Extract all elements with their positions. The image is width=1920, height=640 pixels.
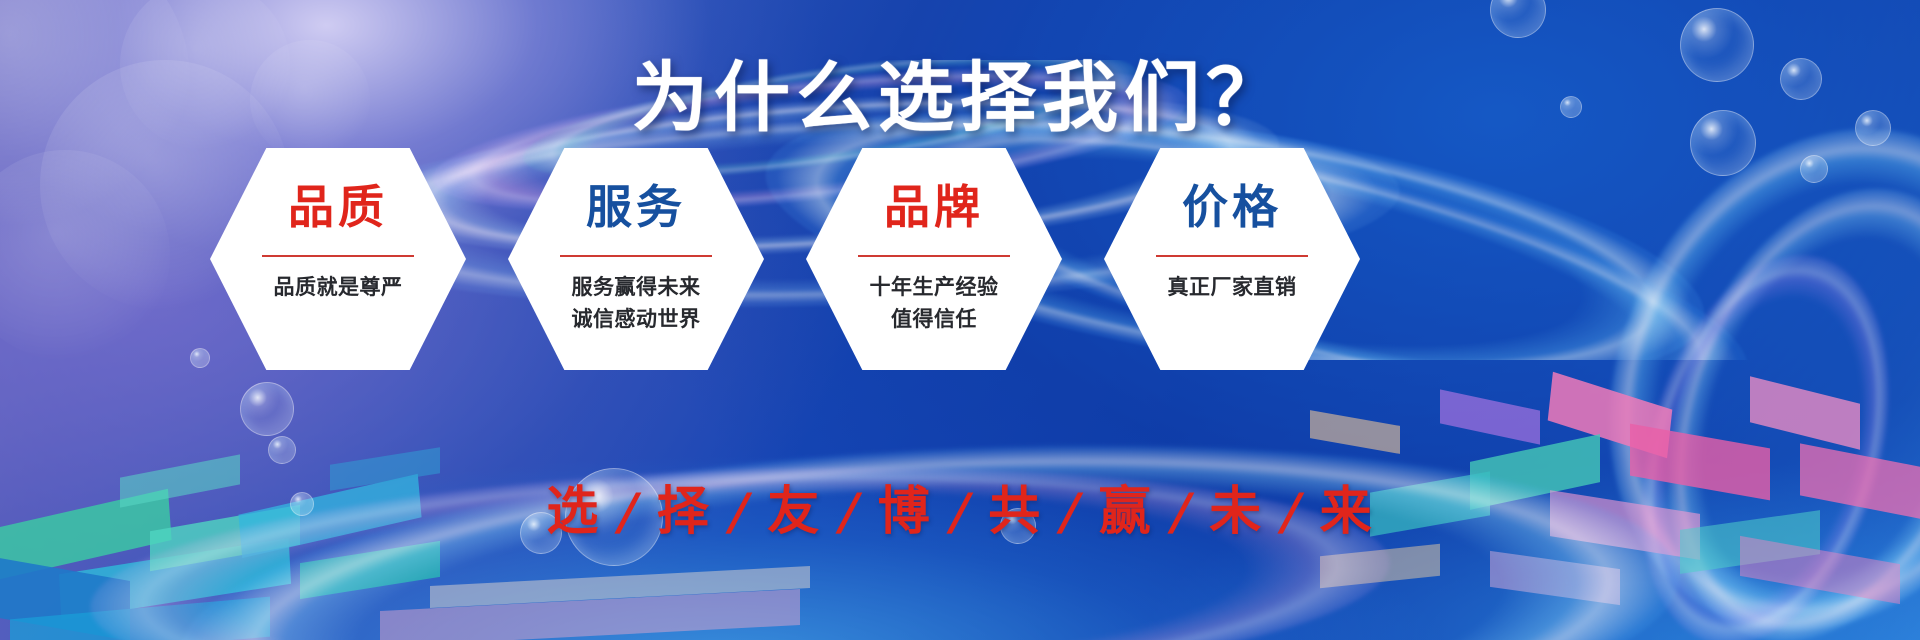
slogan-separator: / <box>820 483 879 541</box>
slogan-separator: / <box>599 483 658 541</box>
feature-card-list: 品质 品质就是尊严 服务 服务赢得未来 诚信感动世界 品牌 十年生产经验 值得信… <box>210 148 1360 370</box>
feature-card-subtitle: 品质就是尊严 <box>274 271 403 304</box>
slogan-separator: / <box>710 483 769 541</box>
divider <box>262 255 414 257</box>
slogan-word: 择 <box>657 469 711 544</box>
slogan-separator: / <box>1041 483 1100 541</box>
feature-card-title: 服务 <box>586 182 686 233</box>
divider <box>858 255 1010 257</box>
feature-card[interactable]: 价格 真正厂家直销 <box>1104 148 1360 370</box>
feature-card[interactable]: 品牌 十年生产经验 值得信任 <box>806 148 1062 370</box>
divider <box>1156 255 1308 257</box>
bubble-icon <box>190 348 210 368</box>
feature-card[interactable]: 服务 服务赢得未来 诚信感动世界 <box>508 148 764 370</box>
slogan-word: 来 <box>1320 469 1374 544</box>
promo-banner: 为什么选择我们？ 品质 品质就是尊严 服务 服务赢得未来 诚信感动世界 品牌 十… <box>0 0 1920 640</box>
feature-card-subtitle: 服务赢得未来 诚信感动世界 <box>572 271 701 336</box>
feature-card-title: 价格 <box>1182 182 1282 233</box>
page-title: 为什么选择我们？ <box>0 36 1920 146</box>
slogan-word: 选 <box>546 469 600 544</box>
slogan-word: 友 <box>767 469 821 544</box>
slogan-word: 未 <box>1209 469 1263 544</box>
slogan-word: 博 <box>878 469 932 544</box>
feature-card-subtitle: 真正厂家直销 <box>1168 271 1297 304</box>
divider <box>560 255 712 257</box>
feature-card-subtitle: 十年生产经验 值得信任 <box>870 271 999 336</box>
feature-card[interactable]: 品质 品质就是尊严 <box>210 148 466 370</box>
slogan: 选 / 择 / 友 / 博 / 共 / 赢 / 未 / 来 <box>0 469 1920 544</box>
slogan-separator: / <box>1262 483 1321 541</box>
slogan-word: 共 <box>988 469 1042 544</box>
slogan-word: 赢 <box>1099 469 1153 544</box>
bubble-icon <box>268 436 296 464</box>
slogan-separator: / <box>931 483 990 541</box>
bubble-icon <box>1800 155 1828 183</box>
slogan-separator: / <box>1152 483 1211 541</box>
feature-card-title: 品质 <box>288 182 388 233</box>
feature-card-title: 品牌 <box>884 182 984 233</box>
bubble-icon <box>240 382 294 436</box>
